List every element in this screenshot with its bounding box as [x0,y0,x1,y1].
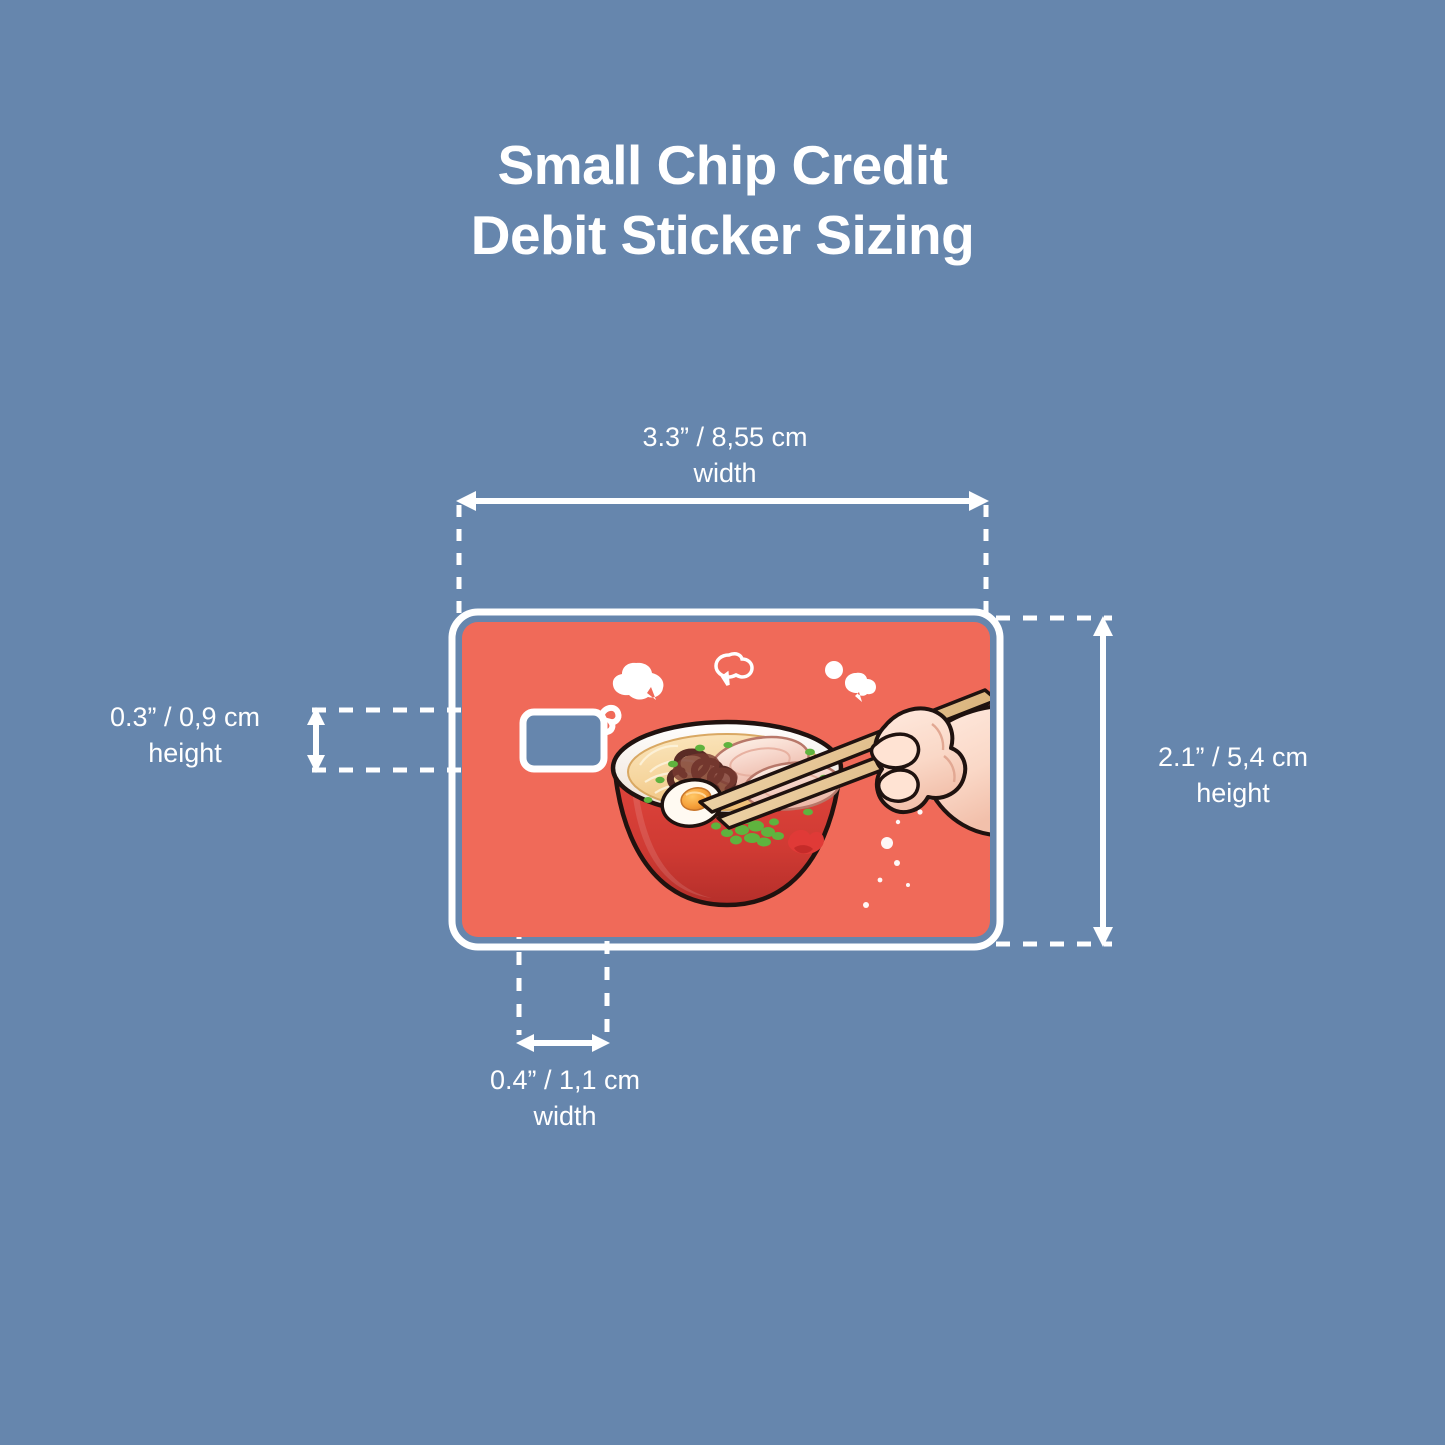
diagram-graphics [0,0,1445,1445]
chip-cutout [523,708,618,769]
chip-width-arrow [516,1034,610,1052]
card-width-arrow [456,491,989,511]
sizing-diagram-canvas: Small Chip Credit Debit Sticker Sizing 3… [0,0,1445,1445]
card-height-arrow [1093,616,1113,947]
chip-height-arrow [307,707,325,773]
